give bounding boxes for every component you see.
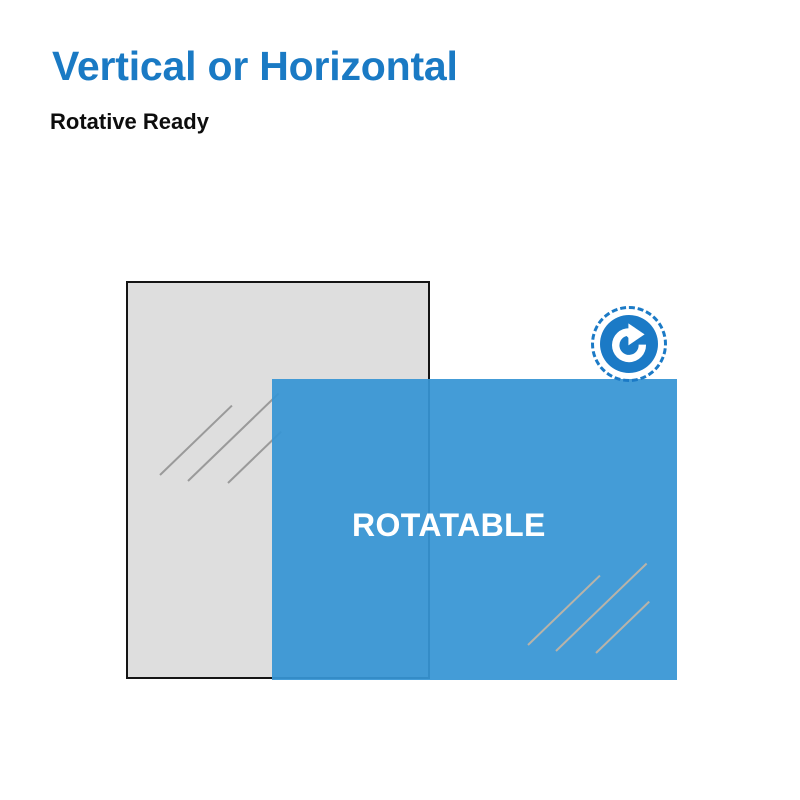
rotate-clockwise-icon	[600, 315, 658, 373]
rotatable-label: ROTATABLE	[352, 506, 546, 544]
slide-canvas: Vertical or Horizontal Rotative Ready RO…	[0, 0, 800, 800]
orientation-diagram: ROTATABLE	[0, 0, 800, 800]
rotation-badge	[591, 306, 667, 382]
